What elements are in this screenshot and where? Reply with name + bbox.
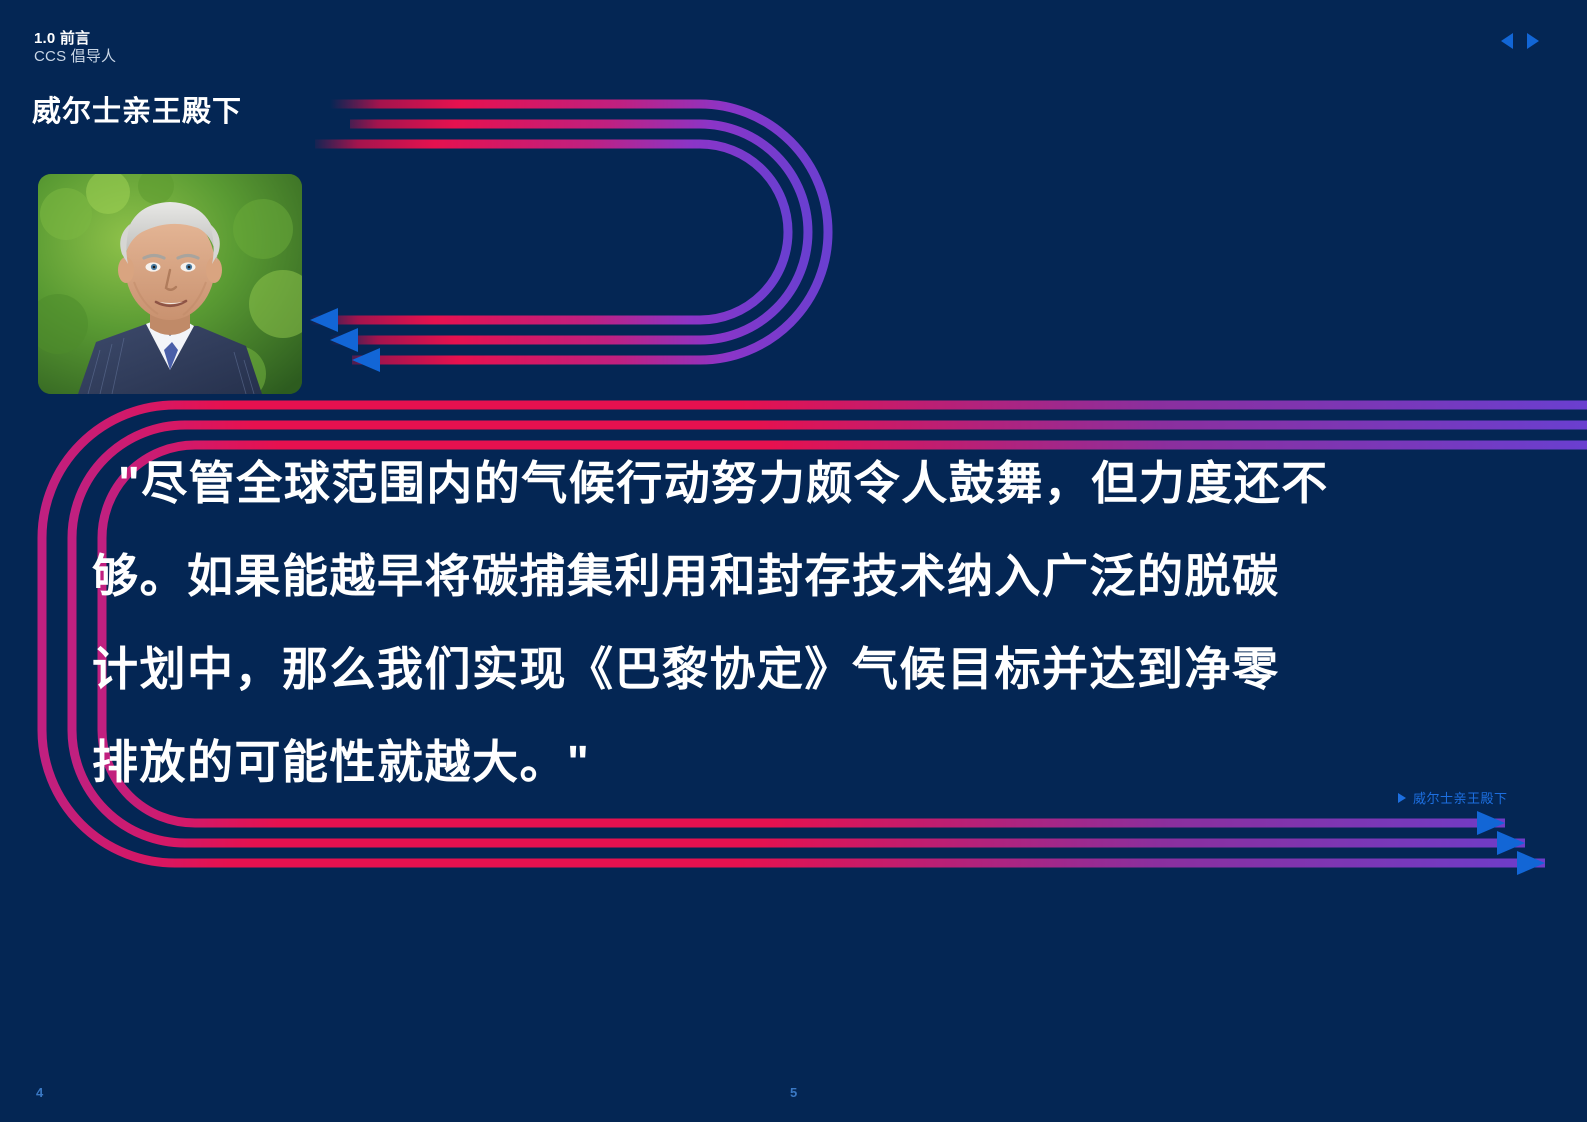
page-number-left: 4 [36,1085,43,1100]
quote-line: 计划中，那么我们实现《巴黎协定》气候目标并达到净零 [92,623,1422,716]
attribution-label: 威尔士亲王殿下 [1413,788,1508,807]
quote-attribution: 威尔士亲王殿下 [1398,788,1508,807]
triangle-right-icon [1398,793,1406,803]
page-number-right: 5 [790,1085,797,1100]
section-subtitle: CCS 倡导人 [34,48,116,66]
triangle-left-icon[interactable] [1501,33,1513,49]
quote-line: 排放的可能性就越大。" [92,716,1422,809]
section-header: 1.0 前言 CCS 倡导人 [34,30,116,67]
slide-canvas: 1.0 前言 CCS 倡导人 威尔士亲王殿下 [0,0,1587,1122]
quote-line: "尽管全球范围内的气候行动努力颇令人鼓舞，但力度还不 [92,437,1422,530]
portrait-photo [38,174,302,394]
triangle-right-icon[interactable] [1527,33,1539,49]
navigation-controls [1501,33,1539,49]
page-title: 威尔士亲王殿下 [32,88,242,130]
quote-line: 够。如果能越早将碳捕集利用和封存技术纳入广泛的脱碳 [92,530,1422,623]
arrow-left-icon [310,308,380,372]
quote-text: "尽管全球范围内的气候行动努力颇令人鼓舞，但力度还不 够。如果能越早将碳捕集利用… [92,437,1422,809]
section-number: 1.0 前言 [34,30,116,48]
arrow-right-icon [1477,811,1545,875]
